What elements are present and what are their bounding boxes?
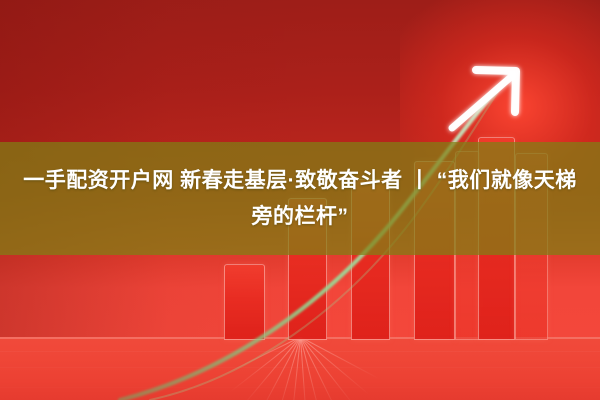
- title-band: 一手配资开户网 新春走基层·致敬奋斗者 丨 “我们就像天梯旁的栏杆”: [0, 142, 600, 255]
- perspective-floor: [0, 337, 600, 400]
- bar-1: [224, 264, 265, 340]
- page-title: 一手配资开户网 新春走基层·致敬奋斗者 丨 “我们就像天梯旁的栏杆”: [20, 163, 580, 235]
- floor-horizontal-line: [0, 367, 600, 368]
- floor-perspective-line: [300, 337, 380, 380]
- floor-horizontal-line: [0, 387, 600, 388]
- banner-image: 一手配资开户网 新春走基层·致敬奋斗者 丨 “我们就像天梯旁的栏杆”: [0, 0, 600, 400]
